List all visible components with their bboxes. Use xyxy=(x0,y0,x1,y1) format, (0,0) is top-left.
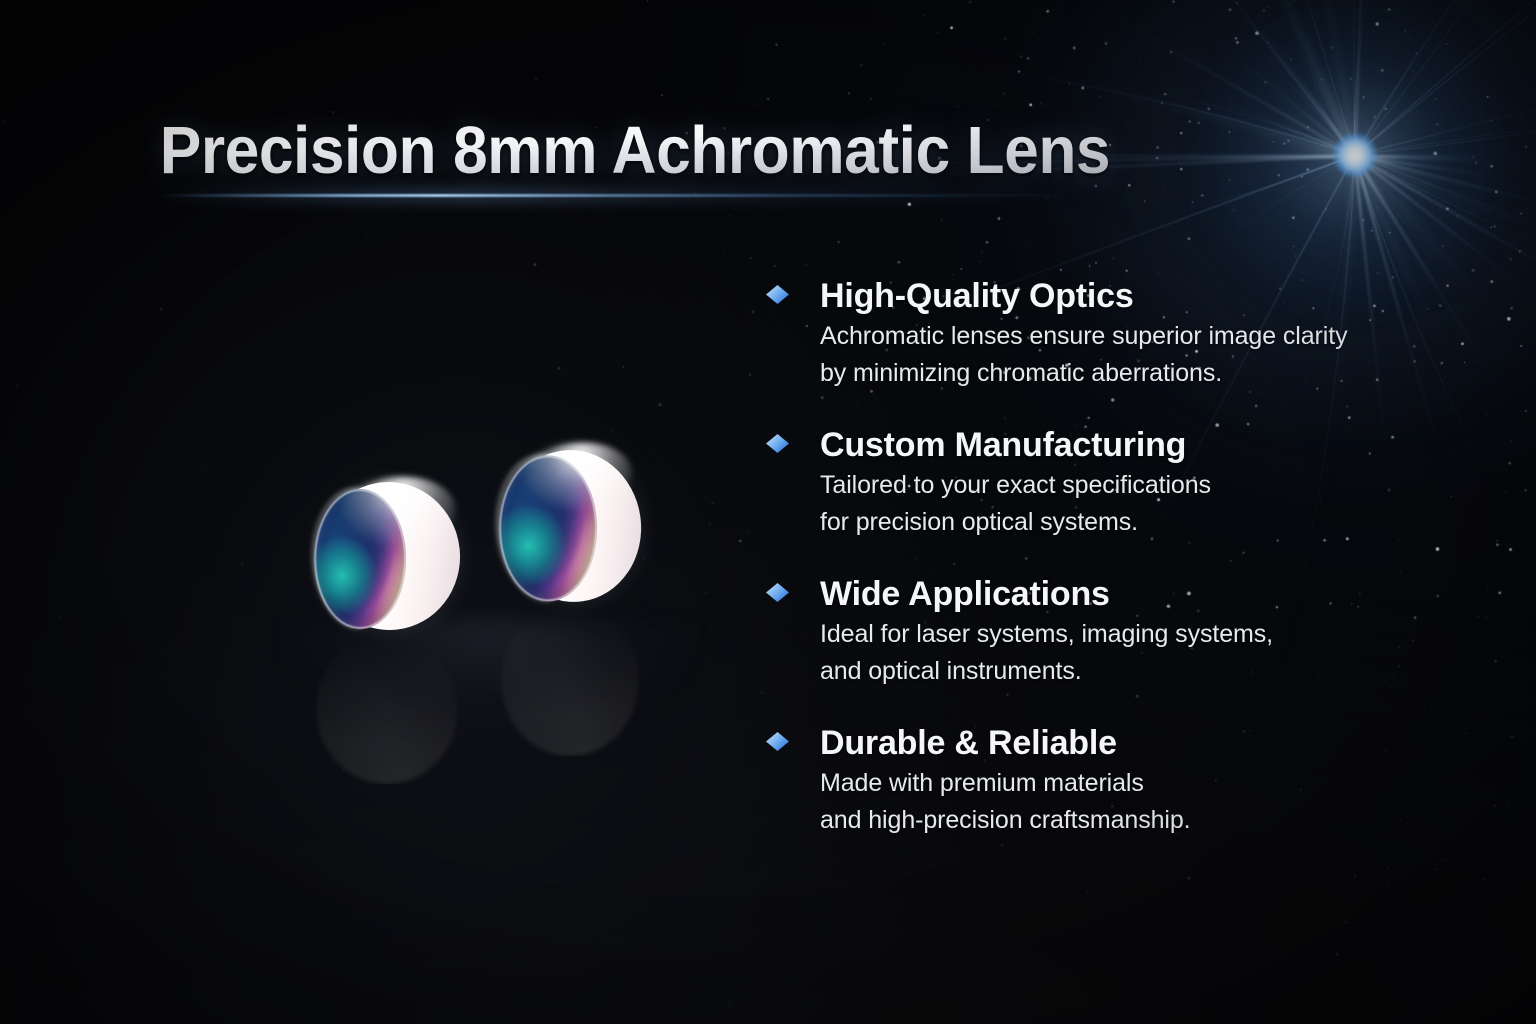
product-image xyxy=(260,420,720,940)
barrel xyxy=(501,604,639,756)
feature-title: High-Quality Optics xyxy=(820,276,1466,316)
feature-line: for precision optical systems. xyxy=(820,504,1466,541)
title-divider xyxy=(160,194,1090,197)
feature-line: and optical instruments. xyxy=(820,653,1466,690)
slide-canvas: Precision 8mm Achromatic Lens xyxy=(0,0,1536,1024)
feature-title: Wide Applications xyxy=(820,574,1466,614)
feature-line: Made with premium materials xyxy=(820,765,1466,802)
feature-line: Ideal for laser systems, imaging systems… xyxy=(820,616,1466,653)
diamond-icon xyxy=(766,285,789,304)
lens-left-reflection xyxy=(316,634,458,784)
feature-list: High-Quality Optics Achromatic lenses en… xyxy=(766,276,1466,839)
feature-title: Custom Manufacturing xyxy=(820,425,1466,465)
diamond-icon xyxy=(766,434,789,453)
feature-line: by minimizing chromatic aberrations. xyxy=(820,355,1466,392)
feature-item: Durable & Reliable Made with premium mat… xyxy=(766,723,1466,839)
feature-item: High-Quality Optics Achromatic lenses en… xyxy=(766,276,1466,392)
barrel xyxy=(316,634,458,784)
title-block: Precision 8mm Achromatic Lens xyxy=(0,112,1270,189)
feature-line: Achromatic lenses ensure superior image … xyxy=(820,318,1466,355)
diamond-icon xyxy=(766,732,789,751)
lens-left xyxy=(311,475,468,637)
flare-core xyxy=(1333,133,1377,177)
feature-item: Wide Applications Ideal for laser system… xyxy=(766,574,1466,690)
feature-item: Custom Manufacturing Tailored to your ex… xyxy=(766,425,1466,541)
lens-right-reflection xyxy=(501,604,639,756)
feature-title: Durable & Reliable xyxy=(820,723,1466,763)
feature-line: and high-precision craftsmanship. xyxy=(820,802,1466,839)
lens-right xyxy=(493,441,651,611)
feature-line: Tailored to your exact specifications xyxy=(820,467,1466,504)
diamond-icon xyxy=(766,583,789,602)
page-title: Precision 8mm Achromatic Lens xyxy=(160,112,1110,189)
